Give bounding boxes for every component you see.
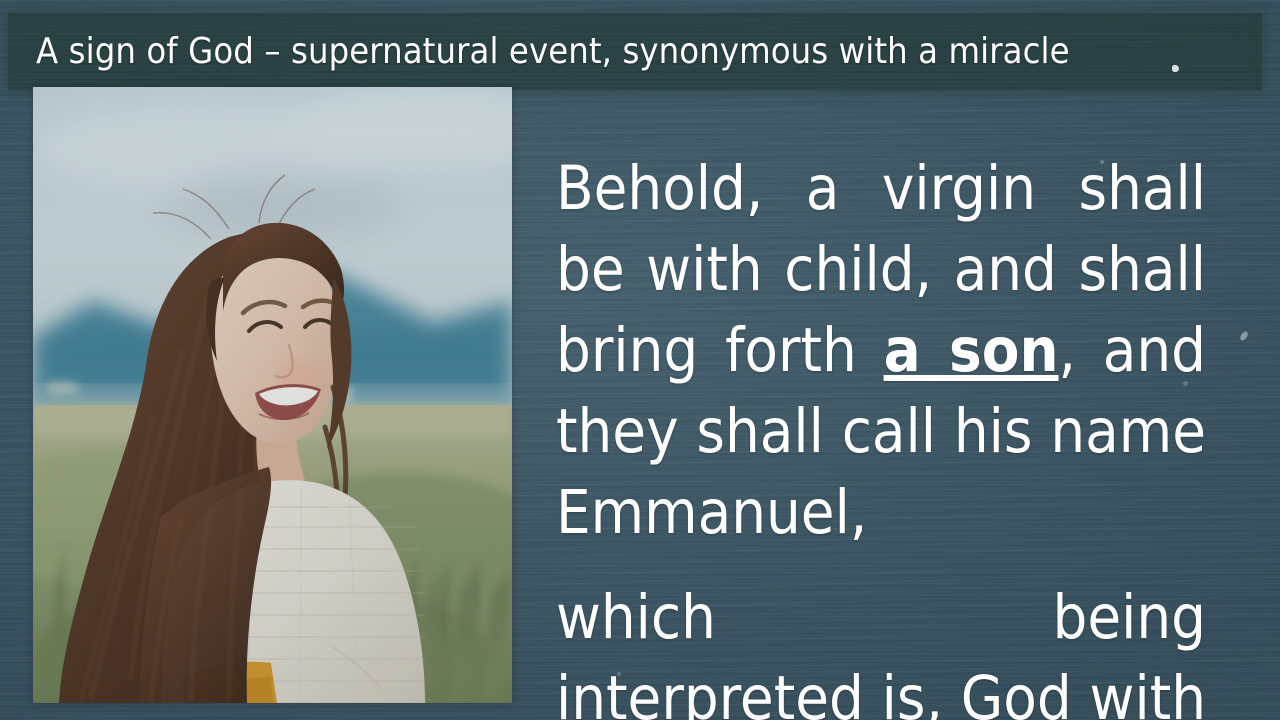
page-title: A sign of God – supernatural event, syno… [36, 33, 1070, 71]
scripture-p1-emphasis: a son [884, 315, 1059, 386]
title-band-speck-icon [1172, 65, 1179, 72]
title-band: A sign of God – supernatural event, syno… [8, 13, 1262, 90]
scripture-paragraph-2: which being interpreted is, God with us. [556, 577, 1206, 720]
slide-canvas: A sign of God – supernatural event, syno… [0, 0, 1280, 720]
background-speck-1 [1239, 330, 1250, 342]
scripture-text-block: Behold, a virgin shall be with child, an… [556, 148, 1206, 720]
portrait-photo-graphic [33, 87, 512, 703]
portrait-photo [33, 87, 512, 703]
scripture-paragraph-1: Behold, a virgin shall be with child, an… [556, 148, 1206, 553]
